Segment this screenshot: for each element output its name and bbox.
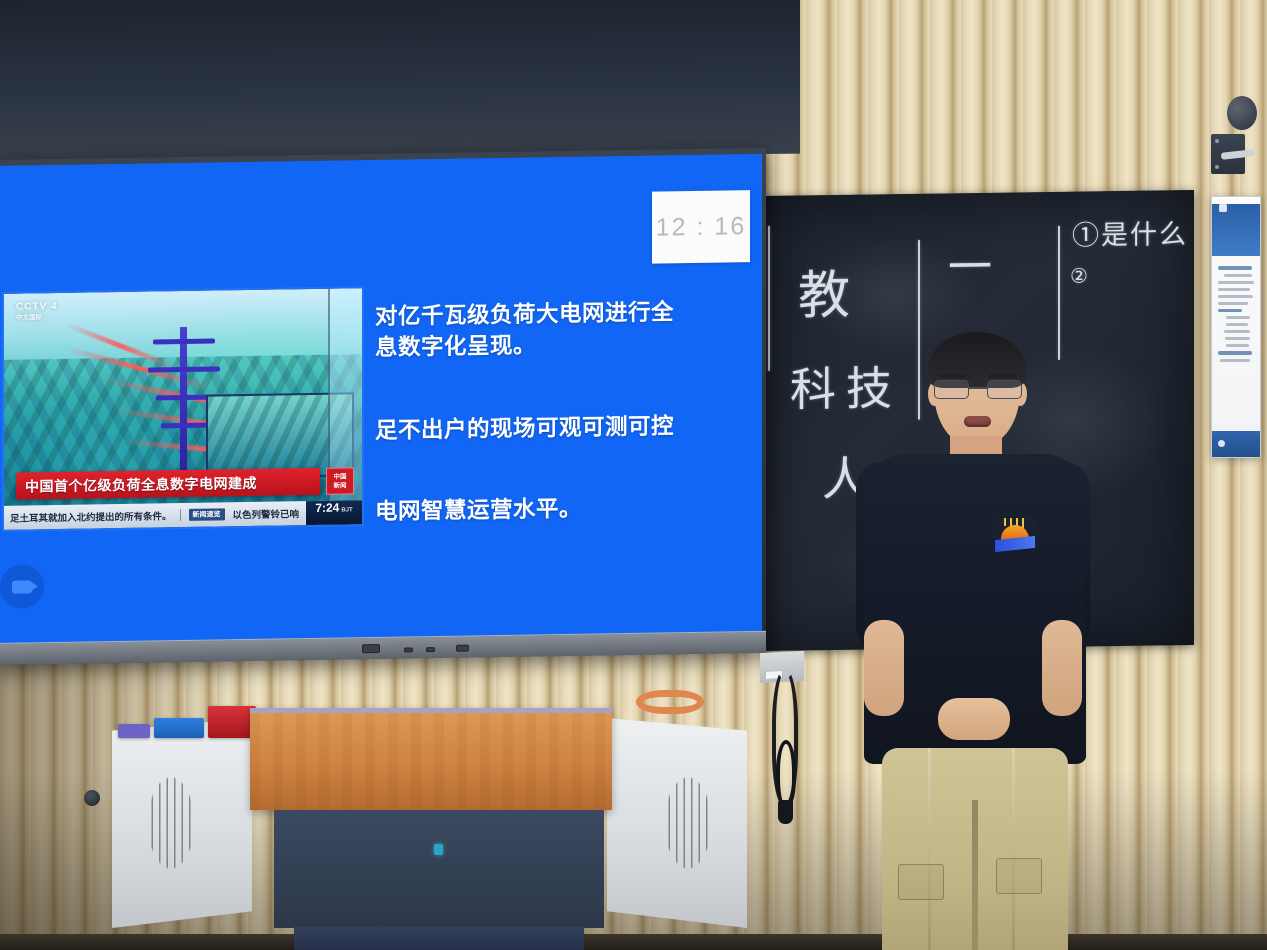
display-screen[interactable]: 12 : 16 <box>0 154 762 644</box>
lectern-lower-panel <box>294 926 584 950</box>
eyeglasses-icon <box>934 380 1022 399</box>
slide-text-line-1: 对亿千瓦级负荷大电网进行全 <box>375 297 720 333</box>
ticker-text-secondary: 以色列警铃已响 <box>233 506 300 521</box>
ticker-text-primary: 足土耳其就加入北约提出的所有条件。 <box>10 508 172 525</box>
slide-text-block: 对亿千瓦级负荷大电网进行全 息数字化呈现。 足不出户的现场可观可测可控 电网智慧… <box>375 297 720 528</box>
video-thumbnail-icon[interactable] <box>0 564 44 609</box>
ceiling-strip <box>0 0 800 162</box>
poster-footer <box>1212 431 1260 457</box>
lectern-left-wing <box>112 718 252 928</box>
cctv-logo-sub: 中文国际 <box>16 312 58 324</box>
interactive-display[interactable]: 12 : 16 <box>0 148 766 665</box>
chalk-note-1: ①是什么 <box>1072 212 1188 253</box>
embedded-news-video[interactable]: CCTV 4 中文国际 中国首个亿级负荷全息数字电网建成 中国 新闻 足土耳其就… <box>4 288 362 530</box>
slide-text-line-4: 电网智慧运营水平。 <box>375 492 720 528</box>
camera-lens-icon <box>1227 96 1257 130</box>
multimedia-lectern[interactable] <box>112 700 747 950</box>
news-headline: 中国首个亿级负荷全息数字电网建成 <box>16 468 320 500</box>
badge-line-1: 中国 <box>334 472 347 481</box>
chalk-box-blue[interactable] <box>154 718 204 738</box>
display-power-button <box>456 645 469 652</box>
video-icon-body <box>12 580 32 593</box>
lectern-front-panel <box>274 810 604 928</box>
transmission-tower-graphic <box>159 327 207 488</box>
speaker-grille-right <box>655 758 721 888</box>
lectern-right-wing <box>607 718 747 928</box>
slide-text-line-3: 足不出户的现场可观可测可控 <box>375 411 720 447</box>
news-time-zone: BJT <box>341 507 352 513</box>
power-plug-icon <box>778 800 793 824</box>
display-button-one <box>404 647 413 652</box>
poster-header <box>1212 204 1260 256</box>
ticker-chip: 新闻速览 <box>189 508 225 521</box>
presentation-slide: 12 : 16 <box>0 154 762 644</box>
chalk-box-purple[interactable] <box>118 724 150 738</box>
speaker-grille-left <box>138 758 204 888</box>
classroom-scene: 教 科技 人 一 ①是什么 ② <box>0 0 1267 950</box>
chalk-note-2: ② <box>1070 263 1089 288</box>
tape-roll-icon[interactable] <box>636 690 704 714</box>
presenter-mouth <box>964 416 991 427</box>
wall-fixture-icon <box>84 790 100 806</box>
news-timestamp: 7:24 BJT <box>306 500 362 525</box>
display-usb-port <box>362 644 380 653</box>
lectern-indicator-light <box>434 844 443 855</box>
clock-widget: 12 : 16 <box>652 190 750 264</box>
clock-time: 12 : 16 <box>656 212 746 242</box>
badge-line-2: 新闻 <box>334 481 347 490</box>
display-button-two <box>426 647 435 652</box>
news-channel-badge: 中国 新闻 <box>326 467 354 494</box>
presenter-hands <box>938 698 1010 740</box>
shirt-logo-icon <box>992 518 1038 560</box>
poster-footer-dot <box>1218 440 1225 447</box>
cctv-logo: CCTV 4 中文国际 <box>16 301 58 324</box>
chalk-box-red[interactable] <box>208 706 256 738</box>
camera-icon <box>1211 88 1257 174</box>
ticker-separator <box>180 509 181 521</box>
poster-header-dot <box>1219 204 1227 212</box>
wall-notice-board <box>1211 196 1261 458</box>
chalk-brace-left <box>768 226 770 371</box>
poster-body <box>1212 256 1260 362</box>
cctv-logo-text: CCTV 4 <box>16 301 58 313</box>
presenter-leg-split <box>972 800 978 950</box>
presenter <box>842 330 1104 950</box>
lectern-desktop <box>250 708 612 810</box>
news-time-value: 7:24 <box>315 501 339 515</box>
